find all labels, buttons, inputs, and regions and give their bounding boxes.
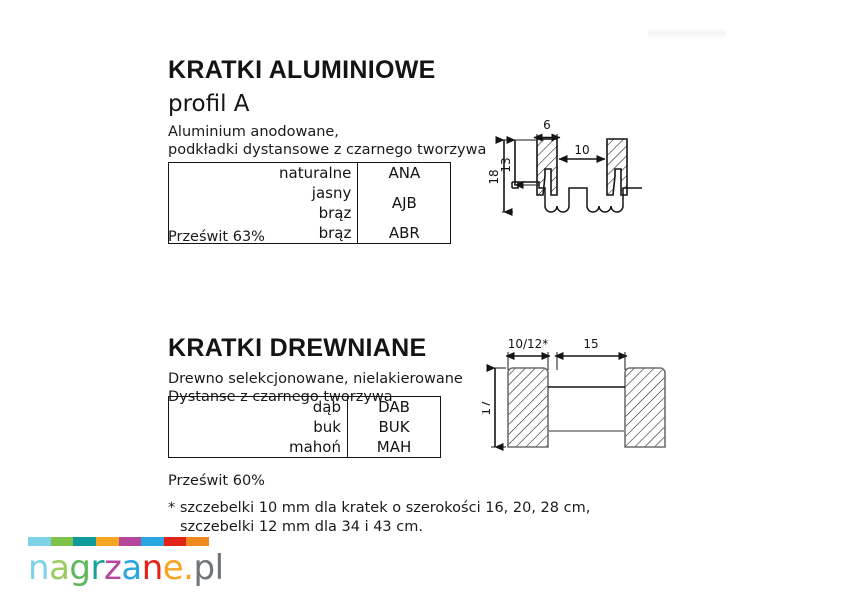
table-cell-spacer [169, 437, 274, 458]
table-cell-code: MAH [348, 437, 441, 458]
table-cell-spacer [169, 163, 274, 184]
wooden-profile-drawing: 10/12* 15 17 [482, 332, 692, 457]
dim-label-10-12: 10/12* [508, 337, 549, 351]
drewniane-finish-table: dąb DAB buk BUK mahoń MAH [168, 396, 441, 458]
logo-letter-5: a [121, 548, 141, 588]
logo-letter-7: e [163, 548, 183, 588]
logo-letter-1: a [49, 548, 69, 588]
dim-label-15: 15 [583, 337, 598, 351]
table-cell-spacer [169, 417, 274, 437]
table-cell-name: buk [273, 417, 348, 437]
dim-label-18: 18 [487, 169, 501, 184]
section-aluminium-desc-line-2: podkładki dystansowe z czarnego tworzywa [168, 141, 486, 159]
footnote-line-1: * szczebelki 10 mm dla kratek o szerokoś… [168, 500, 590, 516]
aluminium-profile-drawing: 6 10 13 18 [482, 112, 682, 232]
logo-bar-segment-4 [119, 537, 142, 546]
section-aluminium-desc-line-1: Aluminium anodowane, [168, 123, 486, 141]
logo-letter-8: . [183, 548, 193, 588]
section-drewniane-desc-line-1: Drewno selekcjonowane, nielakierowane [168, 370, 463, 388]
section-aluminium-subtitle: profil A [168, 91, 486, 117]
table-cell-code: ABR [358, 223, 451, 244]
table-row: mahoń MAH [169, 437, 441, 458]
drewniane-open-area-note: Prześwit 60% [168, 473, 265, 489]
logo-letter-9: p [193, 548, 214, 588]
table-cell-code: BUK [348, 417, 441, 437]
logo-bar-segment-3 [96, 537, 119, 546]
section-aluminium-title: KRATKI ALUMINIOWE [168, 56, 486, 85]
logo[interactable]: nagrzane.pl [28, 537, 224, 588]
dim-label-6: 6 [543, 118, 551, 132]
logo-letter-6: n [142, 548, 163, 588]
dim-label-17: 17 [482, 400, 493, 415]
footnote-line-2: szczebelki 12 mm dla 34 i 43 cm. [180, 519, 590, 535]
logo-letter-0: n [28, 548, 49, 588]
logo-bar-segment-2 [73, 537, 96, 546]
logo-bar-segment-7 [186, 537, 209, 546]
logo-bar-segment-0 [28, 537, 51, 546]
logo-bar-segment-6 [164, 537, 187, 546]
footnote-block: * szczebelki 10 mm dla kratek o szerokoś… [168, 500, 590, 535]
table-row: naturalne ANA [169, 163, 451, 184]
aluminium-profile-svg: 6 10 13 18 [482, 112, 682, 232]
scan-artifact [648, 28, 726, 38]
logo-letter-2: g [69, 548, 90, 588]
table-cell-name: naturalne [273, 163, 358, 184]
table-cell-name: jasny brąz [273, 183, 358, 223]
logo-letter-3: r [91, 548, 104, 588]
logo-letter-10: l [215, 548, 224, 588]
wooden-profile-svg: 10/12* 15 17 [482, 332, 692, 457]
logo-wordmark: nagrzane.pl [28, 548, 224, 588]
section-aluminium-text: KRATKI ALUMINIOWE profil A Aluminium ano… [168, 56, 486, 159]
dim-label-10: 10 [574, 143, 589, 157]
section-drewniane-title: KRATKI DREWNIANE [168, 334, 463, 363]
table-cell-code: ANA [358, 163, 451, 184]
table-cell-spacer [169, 397, 274, 418]
table-row: dąb DAB [169, 397, 441, 418]
table-row: buk BUK [169, 417, 441, 437]
logo-letter-4: z [104, 548, 121, 588]
logo-bar-segment-1 [51, 537, 74, 546]
table-cell-name: mahoń [273, 437, 348, 458]
table-cell-code: DAB [348, 397, 441, 418]
table-row: jasny brąz AJB [169, 183, 451, 223]
datasheet-page: KRATKI ALUMINIOWE profil A Aluminium ano… [0, 0, 850, 600]
table-cell-spacer [169, 183, 274, 223]
logo-bar-segment-5 [141, 537, 164, 546]
logo-color-bar [28, 537, 209, 546]
table-cell-code: AJB [358, 183, 451, 223]
table-cell-name: dąb [273, 397, 348, 418]
dim-label-13: 13 [499, 157, 513, 172]
aluminium-open-area-note: Prześwit 63% [168, 229, 265, 245]
table-cell-name: brąz [273, 223, 358, 244]
